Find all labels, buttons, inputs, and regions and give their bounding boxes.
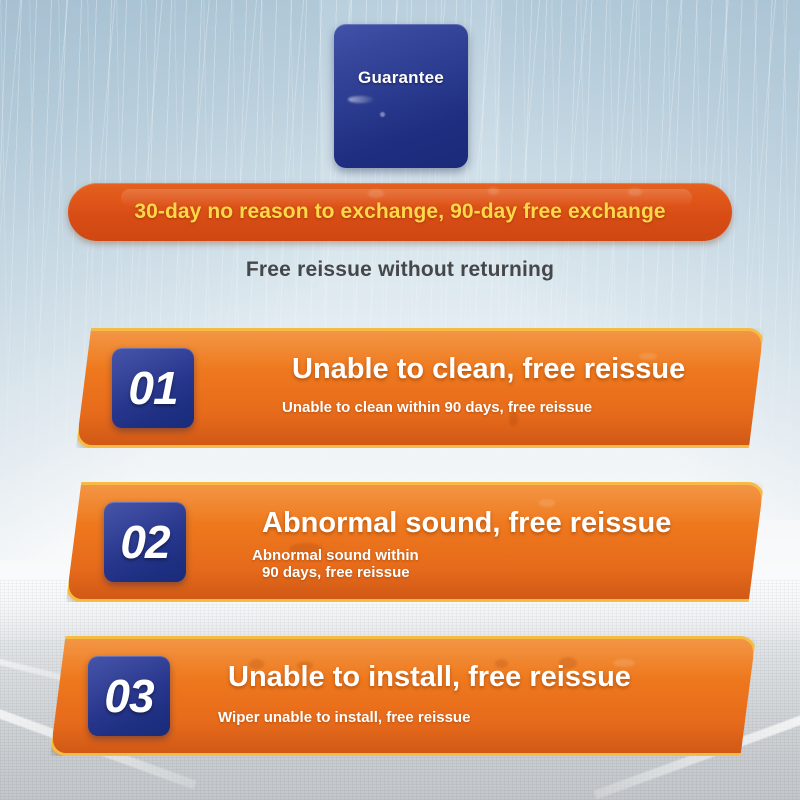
card-subtitle-line-1: Abnormal sound within bbox=[252, 547, 419, 564]
promo-graphic: Guarantee 30-day no reason to exchange, … bbox=[0, 0, 800, 800]
water-droplet-icon bbox=[380, 112, 385, 117]
card-title: Unable to install, free reissue bbox=[228, 661, 631, 694]
exchange-policy-banner-text: 30-day no reason to exchange, 90-day fre… bbox=[68, 183, 732, 241]
card-subtitle: Abnormal sound within 90 days, free reis… bbox=[252, 548, 419, 582]
card-number-badge: 02 bbox=[104, 502, 186, 582]
guarantee-card-01: 01 Unable to clean, free reissue Unable … bbox=[76, 328, 764, 448]
guarantee-badge-label: Guarantee bbox=[334, 68, 468, 88]
exchange-policy-banner: 30-day no reason to exchange, 90-day fre… bbox=[68, 183, 732, 241]
card-subtitle: Unable to clean within 90 days, free rei… bbox=[282, 400, 592, 417]
card-number-label: 01 bbox=[128, 361, 177, 415]
water-droplet-icon bbox=[539, 499, 555, 507]
card-number-label: 02 bbox=[120, 515, 169, 569]
card-number-badge: 03 bbox=[88, 656, 170, 736]
guarantee-card-03: 03 Unable to install, free reissue Wiper… bbox=[50, 636, 756, 756]
card-subtitle: Wiper unable to install, free reissue bbox=[218, 710, 470, 727]
card-number-label: 03 bbox=[104, 669, 153, 723]
guarantee-card-02: 02 Abnormal sound, free reissue Abnormal… bbox=[66, 482, 764, 602]
card-title: Unable to clean, free reissue bbox=[292, 353, 685, 386]
card-subtitle-line-2: 90 days, free reissue bbox=[252, 565, 419, 582]
card-title: Abnormal sound, free reissue bbox=[262, 507, 671, 540]
guarantee-badge: Guarantee bbox=[334, 24, 468, 168]
page-subtitle: Free reissue without returning bbox=[0, 258, 800, 282]
card-number-badge: 01 bbox=[112, 348, 194, 428]
